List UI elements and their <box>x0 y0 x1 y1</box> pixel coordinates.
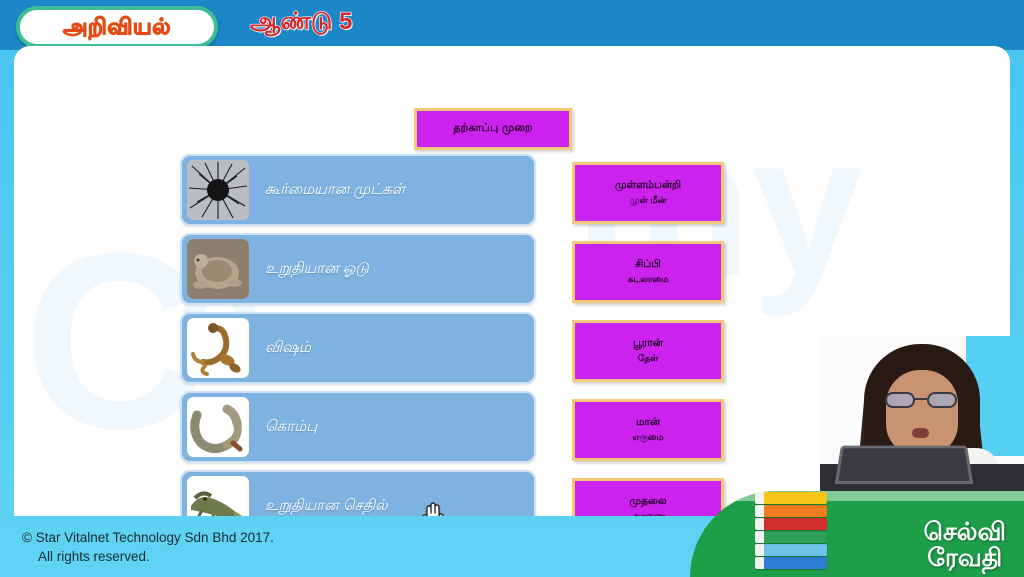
list-item-label: கொம்பு <box>265 418 317 437</box>
answer-card-line2: முள் மீன் <box>630 194 667 208</box>
slide-title-label: தற்காப்பு முறை <box>453 122 532 136</box>
crocodile-photo <box>187 476 249 516</box>
subject-badge: அறிவியல் <box>16 6 218 48</box>
copyright-footer: © Star Vitalnet Technology Sdn Bhd 2017.… <box>22 528 274 567</box>
defence-feature-list: கூர்மையான முட்கள் உறுதியான ஓடு <box>180 154 536 516</box>
slide-title-box: தற்காப்பு முறை <box>414 108 572 150</box>
presenter-name: செல்வி ரேவதி <box>924 519 1007 572</box>
turtle-photo <box>187 239 249 299</box>
answer-card[interactable]: மான் எருமை <box>572 399 724 461</box>
stacked-books-icon <box>755 491 829 569</box>
list-item-label: உறுதியான ஓடு <box>265 260 369 279</box>
answer-card-line1: முள்ளம்பன்றி <box>615 178 681 194</box>
answer-card-line1: மான் <box>636 415 660 431</box>
answer-card-line2: தேள் <box>638 352 658 366</box>
sea-urchin-photo <box>187 160 249 220</box>
banner-highlight <box>690 491 1024 501</box>
answer-card-line2: கடலாமை <box>628 273 669 287</box>
presenter-name-line2: ரேவதி <box>924 545 1007 571</box>
answer-card-line1: முதலை <box>629 494 666 510</box>
watermark-letter-c: C <box>24 216 205 466</box>
teacher-face <box>886 370 958 456</box>
list-item[interactable]: உறுதியான செதில் <box>180 470 536 516</box>
animal-answer-list: முள்ளம்பன்றி முள் மீன் சிப்பி கடலாமை பூர… <box>572 162 724 516</box>
teacher-mouth <box>912 428 929 438</box>
list-item-label: கூர்மையான முட்கள் <box>265 181 405 200</box>
answer-card[interactable]: பூரான் தேள் <box>572 320 724 382</box>
list-item[interactable]: விஷம் <box>180 312 536 384</box>
subject-badge-label: அறிவியல் <box>63 16 171 38</box>
answer-card-line1: சிப்பி <box>635 257 661 273</box>
answer-card-line2: எருமை <box>632 431 663 445</box>
answer-card-line2: அரணை <box>631 510 666 516</box>
list-item[interactable]: உறுதியான ஓடு <box>180 233 536 305</box>
horns-photo <box>187 397 249 457</box>
lesson-video-frame: அறிவியல் ஆண்டு 5 C my e தற்காப்பு முறை <box>0 0 1024 577</box>
year-title: ஆண்டு 5 <box>250 8 352 38</box>
list-item[interactable]: கொம்பு <box>180 391 536 463</box>
list-item[interactable]: கூர்மையான முட்கள் <box>180 154 536 226</box>
copyright-line-1: © Star Vitalnet Technology Sdn Bhd 2017. <box>22 528 274 548</box>
copyright-line-2: All rights reserved. <box>38 547 274 567</box>
presenter-name-line1: செல்வி <box>924 519 1007 545</box>
list-item-label: உறுதியான செதில் <box>265 497 388 516</box>
list-item-label: விஷம் <box>265 339 311 358</box>
answer-card[interactable]: முள்ளம்பன்றி முள் மீன் <box>572 162 724 224</box>
eyeglasses-icon <box>884 392 960 408</box>
laptop-icon <box>835 446 973 485</box>
answer-card-line1: பூரான் <box>633 336 663 352</box>
scorpion-photo <box>187 318 249 378</box>
answer-card[interactable]: சிப்பி கடலாமை <box>572 241 724 303</box>
